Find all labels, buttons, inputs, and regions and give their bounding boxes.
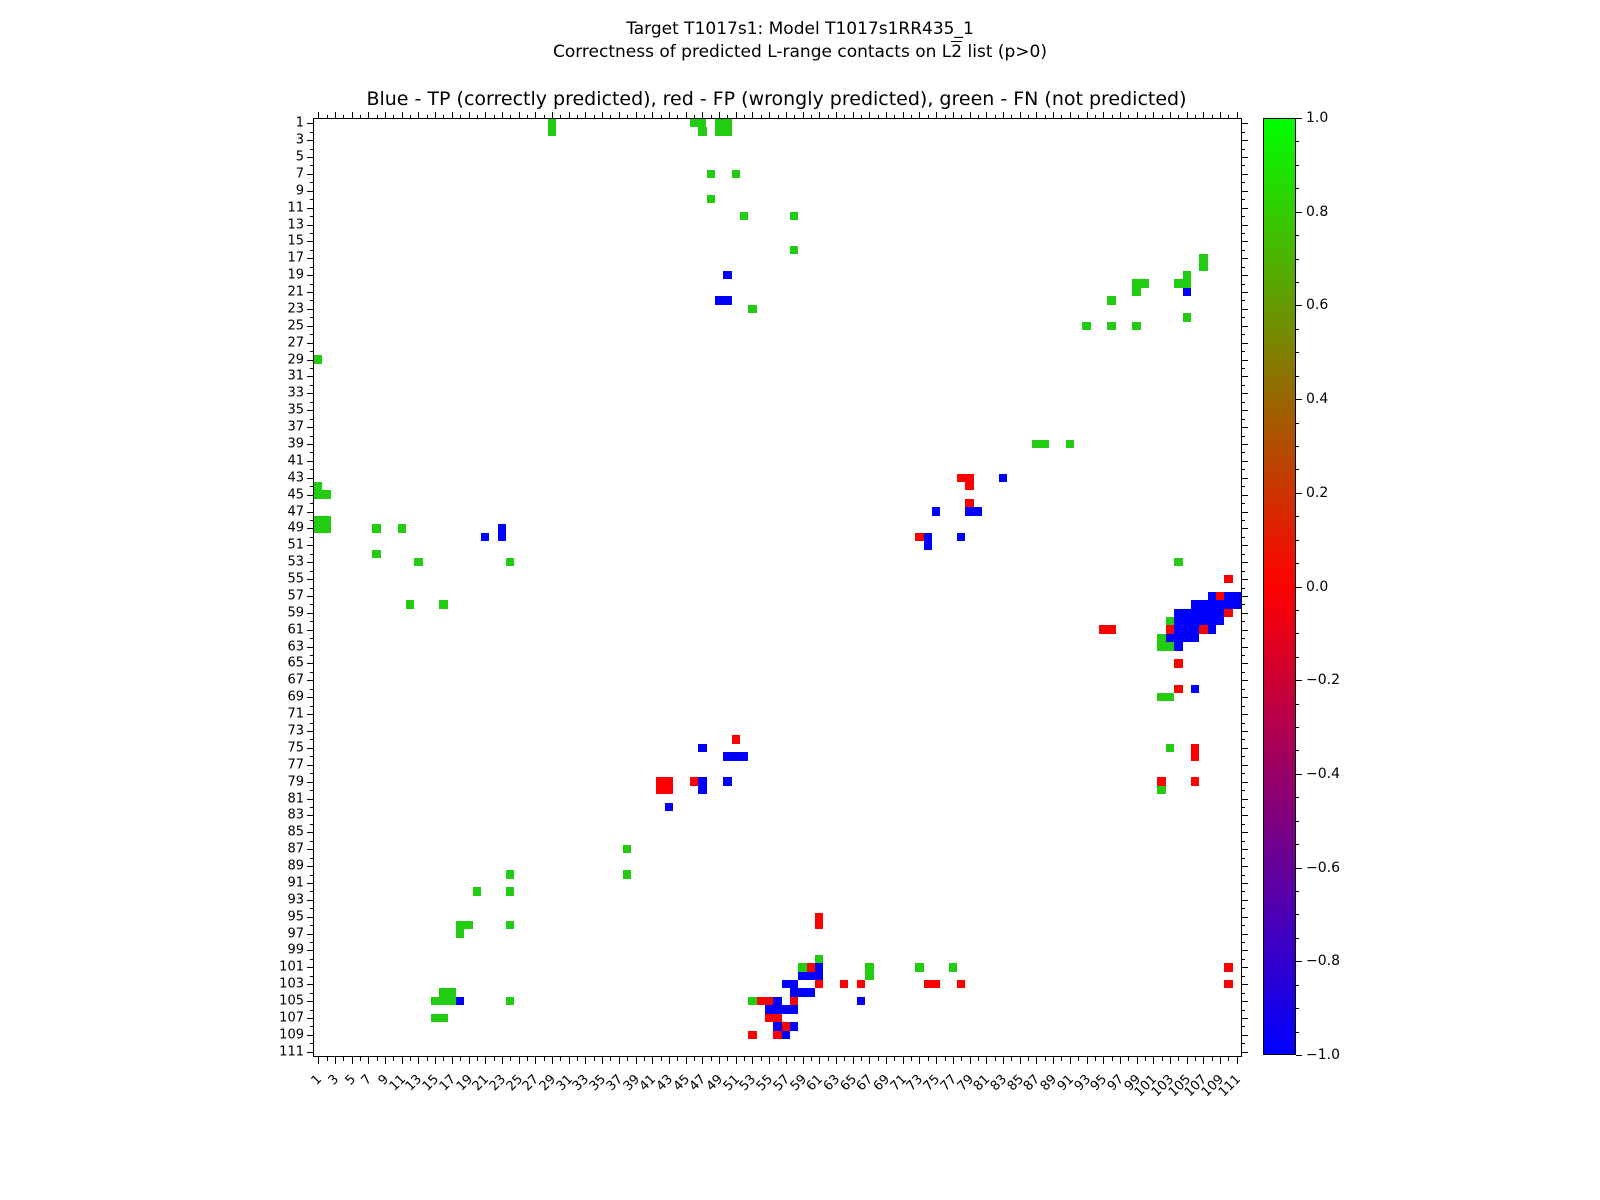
y-tick bbox=[307, 157, 314, 158]
y-tick bbox=[310, 132, 314, 133]
y-tick-right bbox=[1241, 748, 1248, 749]
x-tick-top bbox=[1170, 112, 1171, 119]
y-tick-right bbox=[1241, 225, 1248, 226]
contact-cell bbox=[707, 170, 715, 178]
y-tick bbox=[310, 1026, 314, 1027]
y-tick-right bbox=[1241, 444, 1248, 445]
contact-cell bbox=[690, 119, 707, 127]
x-tick bbox=[719, 1057, 720, 1064]
y-tick bbox=[310, 891, 314, 892]
x-tick-top bbox=[485, 112, 486, 119]
contact-cell bbox=[1208, 609, 1225, 617]
y-tick-right bbox=[1241, 461, 1248, 462]
y-tick bbox=[310, 993, 314, 994]
x-tick-top bbox=[527, 115, 528, 119]
colorbar-tick-label: 0.2 bbox=[1306, 486, 1328, 500]
y-tick-label: 79 bbox=[287, 775, 304, 788]
x-tick-top bbox=[443, 115, 444, 119]
y-tick-right bbox=[1241, 157, 1248, 158]
contact-cell bbox=[707, 195, 715, 203]
contact-cell bbox=[999, 474, 1007, 482]
y-tick bbox=[307, 782, 314, 783]
y-tick bbox=[310, 807, 314, 808]
colorbar-tick-label: 0.0 bbox=[1306, 580, 1328, 594]
x-tick-top bbox=[786, 112, 787, 119]
contact-cell bbox=[372, 550, 380, 558]
x-tick bbox=[936, 1057, 937, 1064]
colorbar-tick bbox=[1296, 774, 1302, 775]
contact-cell bbox=[1174, 642, 1182, 650]
colorbar-minor-tick bbox=[1296, 563, 1299, 564]
colorbar-minor-tick bbox=[1296, 141, 1299, 142]
contact-cell bbox=[715, 296, 732, 304]
x-tick bbox=[1003, 1057, 1004, 1064]
y-tick-label: 51 bbox=[287, 539, 304, 552]
y-tick-right bbox=[1241, 503, 1245, 504]
y-tick-right bbox=[1241, 140, 1248, 141]
contact-cell bbox=[1157, 693, 1174, 701]
contact-cell bbox=[656, 777, 673, 785]
x-tick bbox=[402, 1057, 403, 1064]
contact-cell bbox=[372, 524, 380, 532]
contact-cell bbox=[790, 246, 798, 254]
y-tick bbox=[307, 917, 314, 918]
x-tick bbox=[1128, 1057, 1129, 1061]
y-tick-right bbox=[1241, 689, 1245, 690]
y-tick-label: 15 bbox=[287, 235, 304, 248]
y-tick bbox=[310, 503, 314, 504]
x-tick bbox=[1045, 1057, 1046, 1061]
y-tick bbox=[307, 174, 314, 175]
x-tick-top bbox=[610, 115, 611, 119]
contact-cell bbox=[1132, 288, 1140, 296]
y-tick-right bbox=[1241, 545, 1248, 546]
x-tick-top bbox=[1212, 115, 1213, 119]
y-tick bbox=[310, 689, 314, 690]
x-tick-top bbox=[602, 112, 603, 119]
y-tick-label: 39 bbox=[287, 438, 304, 451]
y-tick-right bbox=[1241, 706, 1245, 707]
x-tick-top bbox=[435, 112, 436, 119]
contact-cell bbox=[665, 803, 673, 811]
contact-cell bbox=[757, 997, 765, 1005]
x-tick-top bbox=[1036, 112, 1037, 119]
x-tick-top bbox=[861, 115, 862, 119]
colorbar[interactable]: 1.00.80.60.40.20.0−0.2−0.4−0.6−0.8−1.0 bbox=[1263, 118, 1296, 1055]
y-tick-right bbox=[1241, 537, 1245, 538]
y-tick bbox=[307, 900, 314, 901]
y-tick bbox=[310, 773, 314, 774]
y-tick-label: 19 bbox=[287, 269, 304, 282]
x-tick bbox=[477, 1057, 478, 1061]
x-tick-top bbox=[585, 112, 586, 119]
y-tick-right bbox=[1241, 182, 1245, 183]
contact-cell bbox=[957, 474, 974, 482]
contact-cell bbox=[773, 1031, 781, 1039]
x-tick bbox=[919, 1057, 920, 1064]
colorbar-tick bbox=[1296, 399, 1302, 400]
x-tick-top bbox=[945, 115, 946, 119]
x-tick bbox=[460, 1057, 461, 1061]
contact-cell bbox=[1224, 575, 1232, 583]
colorbar-tick-label: 0.6 bbox=[1306, 298, 1328, 312]
x-tick bbox=[636, 1057, 637, 1064]
y-tick-right bbox=[1241, 934, 1248, 935]
contact-cell bbox=[782, 1031, 790, 1039]
y-tick-right bbox=[1241, 731, 1248, 732]
colorbar-minor-tick bbox=[1296, 821, 1299, 822]
colorbar-minor-tick bbox=[1296, 516, 1299, 517]
x-tick bbox=[1053, 1057, 1054, 1064]
x-tick-top bbox=[961, 115, 962, 119]
colorbar-minor-tick bbox=[1296, 704, 1299, 705]
y-tick bbox=[310, 824, 314, 825]
y-tick-right bbox=[1241, 300, 1245, 301]
x-tick-top bbox=[1045, 115, 1046, 119]
colorbar-tick bbox=[1296, 1055, 1302, 1056]
x-tick bbox=[803, 1057, 804, 1064]
y-tick bbox=[307, 1001, 314, 1002]
y-tick-label: 23 bbox=[287, 302, 304, 315]
x-tick bbox=[494, 1057, 495, 1061]
y-tick bbox=[307, 579, 314, 580]
y-tick-right bbox=[1241, 436, 1245, 437]
contact-cell bbox=[698, 744, 706, 752]
x-tick-top bbox=[736, 112, 737, 119]
y-tick-label: 63 bbox=[287, 640, 304, 653]
y-tick bbox=[310, 571, 314, 572]
y-tick-label: 105 bbox=[279, 995, 304, 1008]
colorbar-gradient bbox=[1263, 118, 1296, 1055]
x-tick bbox=[761, 1057, 762, 1061]
contact-cell bbox=[498, 524, 506, 541]
y-tick-label: 43 bbox=[287, 471, 304, 484]
colorbar-minor-tick bbox=[1296, 610, 1299, 611]
x-tick bbox=[928, 1057, 929, 1061]
y-tick bbox=[307, 326, 314, 327]
y-tick bbox=[307, 495, 314, 496]
y-tick-right bbox=[1241, 1026, 1245, 1027]
contact-cell bbox=[1199, 625, 1207, 633]
y-tick-right bbox=[1241, 773, 1245, 774]
x-tick bbox=[1095, 1057, 1096, 1061]
contact-cell bbox=[1166, 617, 1174, 625]
y-tick-label: 77 bbox=[287, 758, 304, 771]
suptitle-line2-post: list (p>0) bbox=[962, 42, 1047, 62]
x-tick bbox=[669, 1057, 670, 1064]
x-tick bbox=[711, 1057, 712, 1061]
x-tick bbox=[502, 1057, 503, 1064]
colorbar-tick-label: −1.0 bbox=[1306, 1048, 1340, 1062]
y-tick-right bbox=[1241, 908, 1245, 909]
y-tick-label: 53 bbox=[287, 556, 304, 569]
y-tick-label: 57 bbox=[287, 589, 304, 602]
y-tick-label: 93 bbox=[287, 893, 304, 906]
x-tick bbox=[661, 1057, 662, 1061]
y-tick-right bbox=[1241, 208, 1248, 209]
x-tick-top bbox=[560, 115, 561, 119]
y-tick-right bbox=[1241, 993, 1245, 994]
colorbar-minor-tick bbox=[1296, 797, 1299, 798]
x-tick-top bbox=[778, 115, 779, 119]
x-tick bbox=[544, 1057, 545, 1061]
y-tick-right bbox=[1241, 588, 1245, 589]
y-tick-label: 33 bbox=[287, 387, 304, 400]
y-tick-right bbox=[1241, 360, 1248, 361]
contact-cell bbox=[840, 980, 848, 988]
y-tick-right bbox=[1241, 680, 1248, 681]
x-tick bbox=[1203, 1057, 1204, 1064]
x-tick bbox=[469, 1057, 470, 1064]
y-tick-right bbox=[1241, 1010, 1245, 1011]
y-tick-label: 97 bbox=[287, 927, 304, 940]
contact-cell bbox=[965, 499, 973, 507]
y-tick-right bbox=[1241, 174, 1248, 175]
contact-cell bbox=[723, 777, 731, 785]
x-tick-top bbox=[1078, 115, 1079, 119]
y-tick-right bbox=[1241, 292, 1248, 293]
contact-cell bbox=[456, 921, 473, 929]
contact-cell bbox=[815, 963, 823, 971]
x-tick-top bbox=[828, 115, 829, 119]
x-tick-top bbox=[1137, 112, 1138, 119]
contact-cell bbox=[957, 533, 965, 541]
y-tick-right bbox=[1241, 419, 1245, 420]
x-tick-top bbox=[886, 112, 887, 119]
contact-cell bbox=[1166, 625, 1174, 633]
y-tick bbox=[310, 706, 314, 707]
figure-suptitle: Target T1017s1: Model T1017s1RR435_1 Cor… bbox=[0, 18, 1600, 64]
x-tick-top bbox=[577, 115, 578, 119]
contact-cell bbox=[698, 127, 706, 135]
y-tick-label: 71 bbox=[287, 708, 304, 721]
colorbar-tick bbox=[1296, 587, 1302, 588]
contact-cell bbox=[924, 533, 932, 550]
y-tick-right bbox=[1241, 410, 1248, 411]
x-tick-top bbox=[702, 112, 703, 119]
contact-cell bbox=[748, 305, 756, 313]
x-tick bbox=[652, 1057, 653, 1064]
x-tick-top bbox=[744, 115, 745, 119]
contact-cell bbox=[665, 786, 673, 794]
x-tick-top bbox=[761, 115, 762, 119]
y-tick-right bbox=[1241, 123, 1248, 124]
x-tick bbox=[752, 1057, 753, 1064]
contact-cell bbox=[1107, 322, 1115, 330]
x-tick bbox=[1153, 1057, 1154, 1064]
colorbar-tick bbox=[1296, 680, 1302, 681]
contact-cell bbox=[1166, 744, 1174, 752]
x-tick bbox=[1028, 1057, 1029, 1061]
y-tick bbox=[310, 182, 314, 183]
x-tick-top bbox=[769, 112, 770, 119]
colorbar-minor-tick bbox=[1296, 352, 1299, 353]
y-tick-right bbox=[1241, 655, 1245, 656]
y-tick-right bbox=[1241, 571, 1245, 572]
contact-cell bbox=[732, 752, 749, 760]
contact-cell bbox=[1174, 558, 1182, 566]
y-tick bbox=[310, 317, 314, 318]
y-tick-right bbox=[1241, 942, 1245, 943]
y-tick-right bbox=[1241, 790, 1245, 791]
x-tick bbox=[995, 1057, 996, 1061]
x-tick-top bbox=[1128, 115, 1129, 119]
y-tick-right bbox=[1241, 799, 1248, 800]
x-tick-top bbox=[343, 115, 344, 119]
contact-cell bbox=[1157, 777, 1165, 785]
y-tick-right bbox=[1241, 647, 1248, 648]
y-tick-right bbox=[1241, 267, 1245, 268]
x-tick-top bbox=[360, 115, 361, 119]
y-tick-right bbox=[1241, 875, 1245, 876]
x-tick-top bbox=[368, 112, 369, 119]
y-tick-label: 87 bbox=[287, 843, 304, 856]
x-tick-top bbox=[694, 115, 695, 119]
x-tick bbox=[894, 1057, 895, 1061]
contact-cell bbox=[1208, 592, 1216, 600]
contact-cell bbox=[1233, 600, 1241, 608]
x-tick bbox=[427, 1057, 428, 1061]
x-tick bbox=[1237, 1057, 1238, 1064]
contact-cell bbox=[398, 524, 406, 532]
x-tick-top bbox=[970, 112, 971, 119]
contact-cell bbox=[314, 516, 331, 533]
y-tick bbox=[310, 621, 314, 622]
x-tick bbox=[368, 1057, 369, 1064]
y-tick bbox=[307, 140, 314, 141]
y-tick-label: 61 bbox=[287, 623, 304, 636]
y-tick-right bbox=[1241, 149, 1245, 150]
x-tick bbox=[861, 1057, 862, 1061]
y-tick bbox=[310, 976, 314, 977]
contact-cell bbox=[548, 119, 556, 136]
y-tick-label: 109 bbox=[279, 1028, 304, 1041]
x-tick bbox=[527, 1057, 528, 1061]
colorbar-minor-tick bbox=[1296, 914, 1299, 915]
colorbar-tick-label: 0.8 bbox=[1306, 205, 1328, 219]
y-tick bbox=[310, 925, 314, 926]
y-tick bbox=[310, 199, 314, 200]
x-tick bbox=[769, 1057, 770, 1064]
contact-cell bbox=[1099, 625, 1116, 633]
y-tick-right bbox=[1241, 807, 1245, 808]
y-tick-label: 67 bbox=[287, 674, 304, 687]
contact-cell bbox=[1208, 617, 1225, 625]
y-tick-label: 25 bbox=[287, 319, 304, 332]
x-tick-top bbox=[535, 112, 536, 119]
x-tick-top bbox=[1061, 115, 1062, 119]
colorbar-minor-tick bbox=[1296, 750, 1299, 751]
y-tick-label: 47 bbox=[287, 505, 304, 518]
y-tick-right bbox=[1241, 883, 1248, 884]
y-tick bbox=[307, 461, 314, 462]
x-tick bbox=[360, 1057, 361, 1061]
x-tick bbox=[1036, 1057, 1037, 1064]
x-tick bbox=[736, 1057, 737, 1064]
x-tick bbox=[961, 1057, 962, 1061]
y-tick bbox=[307, 647, 314, 648]
x-tick bbox=[911, 1057, 912, 1061]
x-tick bbox=[585, 1057, 586, 1064]
x-tick bbox=[786, 1057, 787, 1064]
x-tick-top bbox=[911, 115, 912, 119]
y-tick-right bbox=[1241, 959, 1245, 960]
y-tick bbox=[307, 984, 314, 985]
contact-cell bbox=[732, 735, 740, 743]
y-tick-label: 65 bbox=[287, 657, 304, 670]
x-tick-top bbox=[1153, 112, 1154, 119]
x-tick-top bbox=[686, 112, 687, 119]
x-tick bbox=[377, 1057, 378, 1061]
x-tick-top bbox=[711, 115, 712, 119]
x-tick-top bbox=[352, 112, 353, 119]
contact-cell bbox=[790, 1022, 798, 1030]
y-tick bbox=[307, 393, 314, 394]
x-tick-top bbox=[519, 112, 520, 119]
y-tick-right bbox=[1241, 917, 1248, 918]
y-tick bbox=[310, 739, 314, 740]
y-tick-right bbox=[1241, 841, 1245, 842]
y-tick-right bbox=[1241, 613, 1248, 614]
y-tick-right bbox=[1241, 849, 1248, 850]
colorbar-tick-label: −0.8 bbox=[1306, 954, 1340, 968]
x-tick bbox=[1212, 1057, 1213, 1061]
y-tick-label: 89 bbox=[287, 860, 304, 873]
y-tick-right bbox=[1241, 967, 1248, 968]
y-tick bbox=[307, 799, 314, 800]
y-tick-label: 5 bbox=[296, 150, 304, 163]
y-tick-right bbox=[1241, 984, 1248, 985]
y-tick-right bbox=[1241, 191, 1248, 192]
contact-cell bbox=[723, 752, 731, 760]
x-tick bbox=[1162, 1057, 1163, 1061]
colorbar-tick-label: −0.6 bbox=[1306, 861, 1340, 875]
x-tick bbox=[393, 1057, 394, 1061]
y-tick bbox=[310, 368, 314, 369]
y-tick-right bbox=[1241, 900, 1248, 901]
x-tick bbox=[1178, 1057, 1179, 1061]
contact-cell bbox=[815, 955, 823, 963]
x-tick bbox=[1078, 1057, 1079, 1061]
y-tick-label: 1 bbox=[296, 117, 304, 130]
y-tick-label: 27 bbox=[287, 336, 304, 349]
y-tick bbox=[307, 360, 314, 361]
x-tick-top bbox=[677, 115, 678, 119]
x-tick-top bbox=[1028, 115, 1029, 119]
y-tick bbox=[310, 469, 314, 470]
y-tick-label: 91 bbox=[287, 876, 304, 889]
contact-map-plot[interactable]: 1357911131517192123252729313335373941434… bbox=[313, 118, 1242, 1057]
x-tick-top bbox=[569, 112, 570, 119]
y-tick bbox=[307, 275, 314, 276]
colorbar-minor-tick bbox=[1296, 1032, 1299, 1033]
colorbar-tick bbox=[1296, 118, 1302, 119]
contact-cell bbox=[1191, 685, 1199, 693]
x-tick bbox=[1070, 1057, 1071, 1064]
x-tick bbox=[343, 1057, 344, 1061]
x-tick-top bbox=[986, 112, 987, 119]
y-tick-right bbox=[1241, 376, 1248, 377]
y-tick bbox=[307, 478, 314, 479]
y-tick bbox=[307, 748, 314, 749]
x-tick-top bbox=[1112, 115, 1113, 119]
y-tick bbox=[307, 444, 314, 445]
x-tick-top bbox=[1237, 112, 1238, 119]
colorbar-minor-tick bbox=[1296, 469, 1299, 470]
x-tick bbox=[778, 1057, 779, 1061]
y-tick bbox=[310, 756, 314, 757]
colorbar-tick-label: −0.2 bbox=[1306, 673, 1340, 687]
